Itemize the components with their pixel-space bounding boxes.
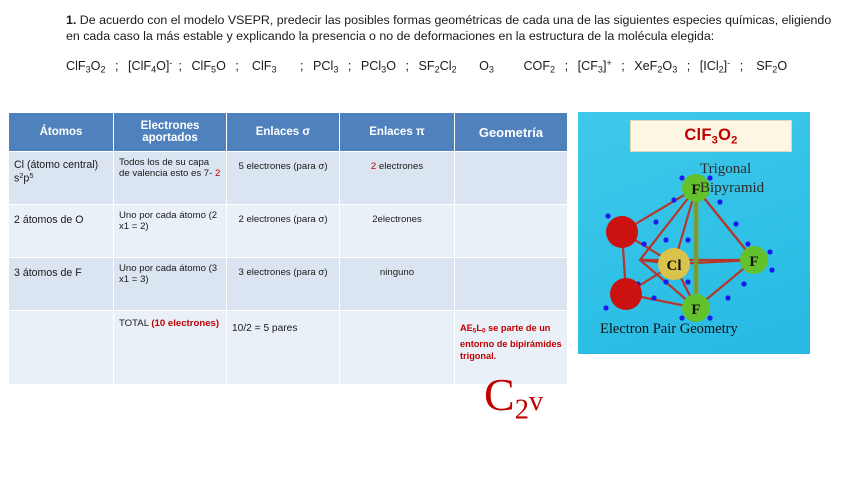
- question-number: 1.: [66, 13, 76, 27]
- formula-cf3-cation: [CF3]+: [578, 58, 612, 75]
- cell-geometry-oxygen: [455, 205, 568, 258]
- cell-pi-total: [340, 311, 455, 385]
- svg-text:Cl: Cl: [667, 258, 682, 274]
- cell-sigma-central: 5 electrones (para σ): [227, 152, 340, 205]
- cell-atoms-total: [9, 311, 114, 385]
- formula-clf4o-anion: [ClF4O]-: [128, 58, 172, 75]
- cell-atoms-fluorine: 3 átomos de F: [9, 258, 114, 311]
- page-title: 1. De acuerdo con el modelo VSEPR, prede…: [66, 12, 832, 44]
- point-group-label: C2v: [484, 372, 543, 434]
- formula-list: ClF3O2 ; [ClF4O]-; ClF5O ; ClF3 ; PCl3 ;…: [66, 58, 826, 75]
- point-group-v: v: [529, 386, 543, 417]
- column-header-atoms: Átomos: [9, 113, 114, 152]
- cell-electrons-total: TOTAL (10 electrones): [114, 311, 227, 385]
- table-row: 2 átomos de O Uno por cada átomo (2 x1 =…: [9, 205, 568, 258]
- formula-clf5o: ClF5O: [191, 59, 225, 75]
- question-text: De acuerdo con el modelo VSEPR, predecir…: [66, 13, 831, 43]
- cell-pi-oxygen: 2electrones: [340, 205, 455, 258]
- point-group-order: 2: [515, 395, 529, 426]
- svg-text:F: F: [691, 302, 700, 318]
- table-header-row: Átomos Electrones aportados Enlaces σ En…: [9, 113, 568, 152]
- column-header-pi: Enlaces π: [340, 113, 455, 152]
- formula-xef2o3: XeF2O3: [634, 59, 677, 75]
- formula-pcl3: PCl3: [313, 59, 338, 75]
- formula-clf3o2: ClF3O2: [66, 59, 105, 75]
- cell-geometry-central: [455, 152, 568, 205]
- cell-electrons-oxygen: Uno por cada átomo (2 x1 = 2): [114, 205, 227, 258]
- formula-sf2cl2: SF2Cl2: [419, 59, 457, 75]
- cell-sigma-oxygen: 2 electrones (para σ): [227, 205, 340, 258]
- cell-sigma-fluorine: 3 electrones (para σ): [227, 258, 340, 311]
- column-header-sigma: Enlaces σ: [227, 113, 340, 152]
- formula-o3: O3: [479, 59, 494, 75]
- table-row: 3 átomos de F Uno por cada átomo (3 x1 =…: [9, 258, 568, 311]
- formula-sf2o: SF2O: [753, 59, 787, 75]
- cell-pi-fluorine: ninguno: [340, 258, 455, 311]
- cell-atoms-central: Cl (átomo central) s2p5: [9, 152, 114, 205]
- cell-sigma-total: 10/2 = 5 pares: [227, 311, 340, 385]
- table-row: Cl (átomo central) s2p5 Todos los de su …: [9, 152, 568, 205]
- formula-clf3: ClF3: [248, 59, 276, 75]
- svg-text:F: F: [749, 254, 758, 270]
- formula-icl2-anion: [ICl2]-: [700, 58, 730, 75]
- cell-electrons-central: Todos los de su capa de valencia esto es…: [114, 152, 227, 205]
- atom-oxygen: [606, 216, 638, 248]
- cell-atoms-oxygen: 2 átomos de O: [9, 205, 114, 258]
- column-header-geometry: Geometría: [455, 113, 568, 152]
- molecule-image-panel: F F F Cl ClF3O2 Trigonal Bipyramid Elect…: [578, 112, 810, 354]
- column-header-electrons: Electrones aportados: [114, 113, 227, 152]
- cell-electrons-fluorine: Uno por cada átomo (3 x1 = 3): [114, 258, 227, 311]
- vsepr-table: Átomos Electrones aportados Enlaces σ En…: [8, 112, 568, 385]
- electrons-red-value: 2: [215, 168, 220, 179]
- electron-pair-geometry-caption: Electron Pair Geometry: [600, 321, 738, 338]
- cell-geometry-fluorine: [455, 258, 568, 311]
- molecule-title-box: ClF3O2: [630, 120, 792, 152]
- geometry-code: AE5L0: [460, 323, 486, 333]
- molecule-title: ClF3O2: [684, 126, 737, 146]
- total-electrons-value: (10 electrones): [151, 318, 219, 329]
- atom-oxygen: [610, 278, 642, 310]
- cell-pi-central: 2 electrones: [340, 152, 455, 205]
- formula-cof2: COF2: [523, 59, 555, 75]
- formula-pcl3o: PCl3O: [361, 59, 396, 75]
- geometry-label: Trigonal Bipyramid: [700, 160, 764, 198]
- point-group-letter: C: [484, 369, 515, 420]
